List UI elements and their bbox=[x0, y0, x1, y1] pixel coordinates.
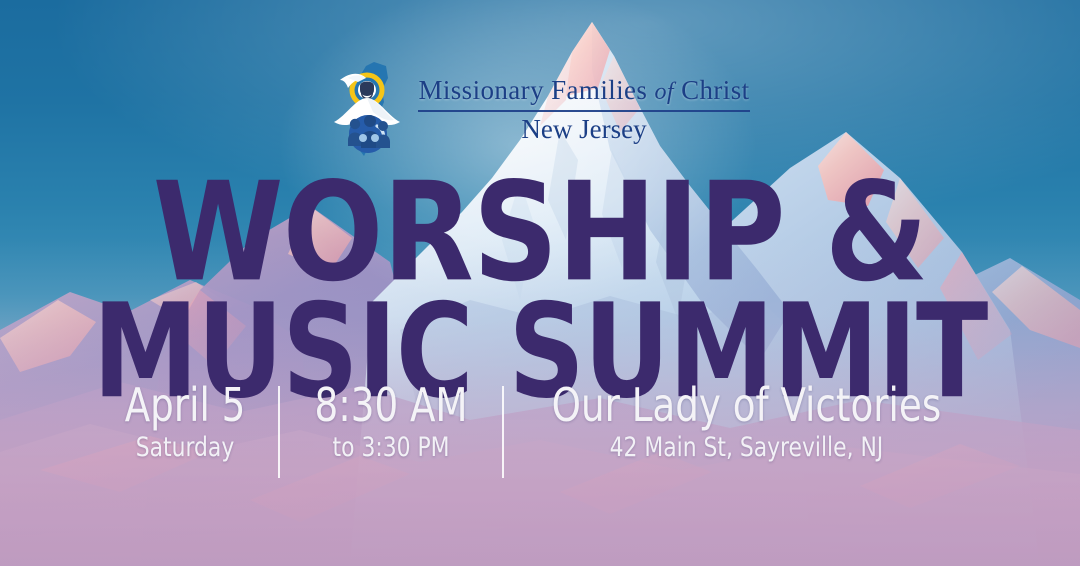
venue-primary: Our Lady of Victories bbox=[551, 382, 941, 428]
mfc-emblem-icon bbox=[330, 60, 408, 160]
event-title: WORSHIP & MUSIC SUMMIT bbox=[0, 186, 1080, 394]
event-details-row: April 5 Saturday 8:30 AM to 3:30 PM Our … bbox=[0, 382, 1080, 478]
time-primary: 8:30 AM bbox=[314, 382, 467, 428]
logo-text-christ: Christ bbox=[681, 75, 749, 105]
venue-secondary: 42 Main St, Sayreville, NJ bbox=[551, 434, 941, 461]
logo-divider-rule bbox=[418, 110, 749, 112]
event-poster: Missionary Families of Christ New Jersey… bbox=[0, 0, 1080, 566]
detail-venue: Our Lady of Victories 42 Main St, Sayrev… bbox=[504, 382, 989, 461]
time-secondary: to 3:30 PM bbox=[314, 434, 467, 461]
date-secondary: Saturday bbox=[124, 434, 245, 461]
logo-line-1: Missionary Families of Christ bbox=[418, 76, 749, 105]
organization-logo: Missionary Families of Christ New Jersey bbox=[0, 60, 1080, 160]
logo-line-2: New Jersey bbox=[521, 115, 646, 143]
detail-time: 8:30 AM to 3:30 PM bbox=[280, 382, 502, 461]
date-primary: April 5 bbox=[124, 382, 245, 428]
logo-text-of: of bbox=[654, 79, 673, 105]
detail-date: April 5 Saturday bbox=[92, 382, 278, 461]
logo-text-missionary-families: Missionary Families bbox=[418, 75, 647, 105]
title-line-1: WORSHIP & bbox=[0, 176, 1080, 291]
logo-wordmark: Missionary Families of Christ New Jersey bbox=[418, 76, 749, 144]
